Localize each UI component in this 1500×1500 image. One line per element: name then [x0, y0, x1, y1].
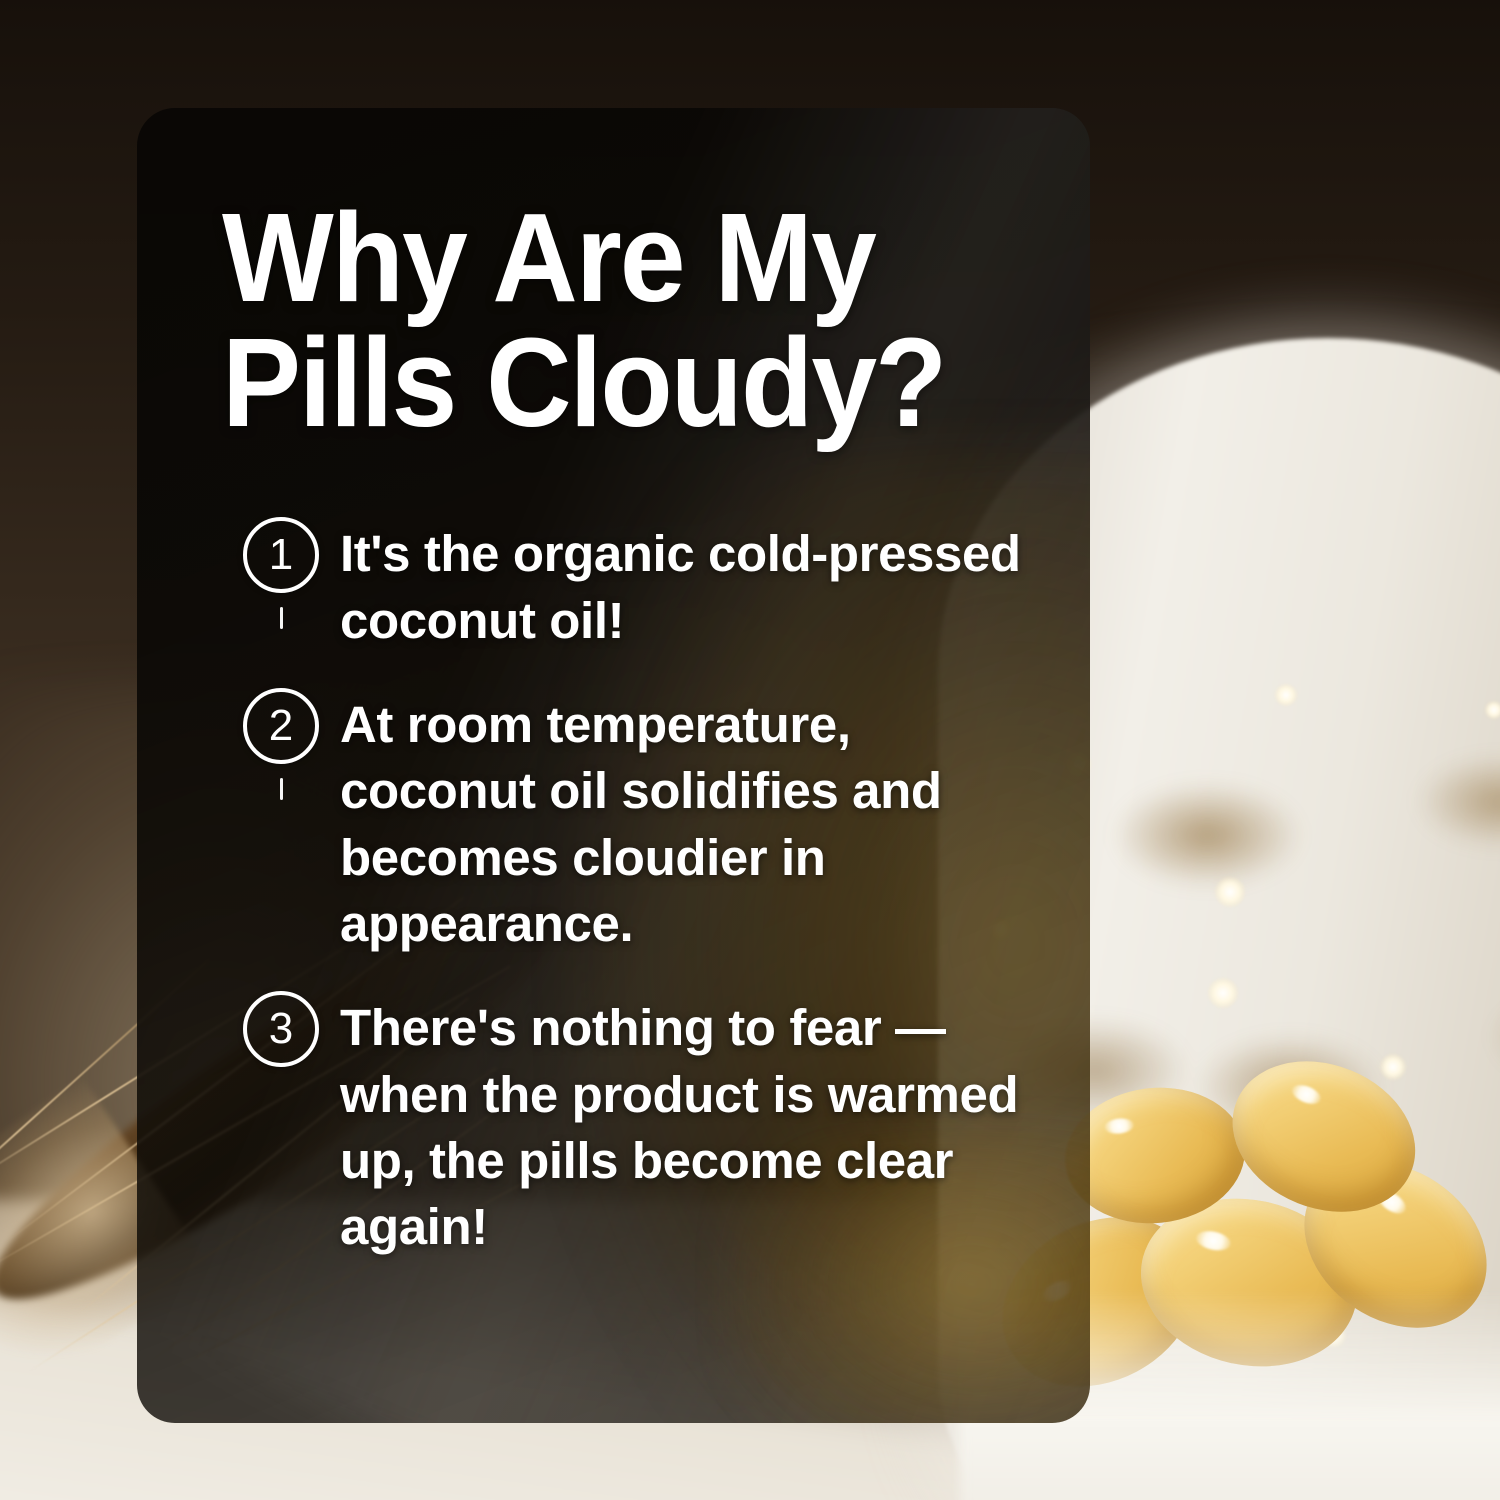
card-content: Why Are My Pills Cloudy? 1It's the organ…: [137, 108, 1090, 1260]
capsule-gloss: [1104, 1117, 1134, 1135]
step-marker-column: 1: [222, 517, 340, 643]
step-connector-line: [280, 778, 283, 800]
info-card: Why Are My Pills Cloudy? 1It's the organ…: [137, 108, 1090, 1423]
capsule-highlight-dot: [1208, 978, 1238, 1008]
list-item: 1It's the organic cold-pressed coconut o…: [222, 517, 1024, 688]
list-item: 2At room temperature, coconut oil solidi…: [222, 688, 1024, 991]
step-connector-line: [280, 607, 283, 629]
step-number-badge: 1: [243, 517, 319, 593]
step-number-badge: 2: [243, 688, 319, 764]
step-marker-column: 3: [222, 991, 340, 1067]
step-number-badge: 3: [243, 991, 319, 1067]
capsule-highlight-dot: [1380, 1054, 1406, 1080]
list-item: 3There's nothing to fear — when the prod…: [222, 991, 1024, 1260]
step-marker-column: 2: [222, 688, 340, 814]
page-title: Why Are My Pills Cloudy?: [222, 196, 976, 445]
capsule-gloss: [1194, 1228, 1232, 1253]
step-text: There's nothing to fear — when the produ…: [340, 991, 1024, 1260]
step-text: It's the organic cold-pressed coconut oi…: [340, 517, 1024, 688]
numbered-step-list: 1It's the organic cold-pressed coconut o…: [222, 517, 1024, 1260]
capsule-highlight-dot: [1275, 684, 1297, 706]
capsule-highlight-dot: [1215, 877, 1245, 907]
capsule-gloss: [1289, 1082, 1323, 1108]
capsule-highlight-dot: [1485, 701, 1500, 719]
step-text: At room temperature, coconut oil solidif…: [340, 688, 1024, 991]
